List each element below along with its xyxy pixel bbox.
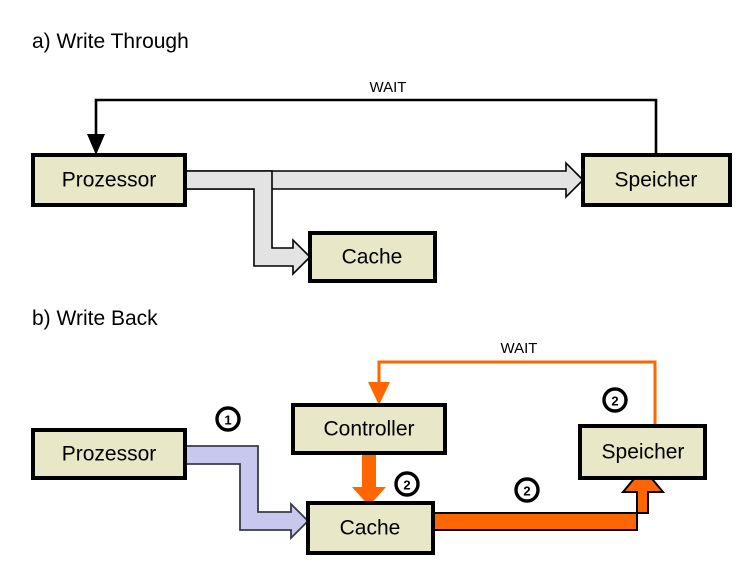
node-controller-b[interactable]: Controller: [293, 405, 445, 453]
step-marker-2-cache-speicher: 2: [516, 479, 538, 501]
step-marker-1: 1: [217, 408, 239, 430]
wait-a-label: WAIT: [370, 79, 407, 96]
step-marker-2-controller: 2: [396, 473, 418, 495]
step-marker-2-controller-label: 2: [403, 478, 410, 493]
node-prozessor-b[interactable]: Prozessor: [33, 430, 185, 478]
node-cache-a[interactable]: Cache: [310, 233, 435, 281]
section-a-title: a) Write Through: [32, 30, 189, 53]
step-marker-2-cache-speicher-label: 2: [523, 484, 530, 499]
prozessor-b-label: Prozessor: [62, 443, 157, 466]
node-speicher-a[interactable]: Speicher: [583, 155, 730, 205]
node-prozessor-a[interactable]: Prozessor: [33, 155, 185, 205]
speicher-b-label: Speicher: [602, 441, 685, 464]
controller-b-label: Controller: [323, 418, 414, 441]
cache-b-label: Cache: [340, 517, 401, 540]
section-b-title: b) Write Back: [32, 307, 158, 330]
wait-b-label: WAIT: [501, 340, 538, 357]
prozessor-a-label: Prozessor: [62, 169, 157, 192]
node-cache-b[interactable]: Cache: [308, 503, 433, 553]
node-speicher-b[interactable]: Speicher: [580, 426, 705, 478]
speicher-a-label: Speicher: [615, 169, 698, 192]
step-marker-1-label: 1: [224, 413, 231, 428]
cache-a-label: Cache: [342, 246, 403, 269]
step-marker-2-speicher-label: 2: [611, 394, 618, 409]
diagram-canvas: a) Write Through WAIT Prozessor: [0, 0, 751, 580]
step-marker-2-speicher: 2: [604, 389, 626, 411]
cache-write-policy-diagram: a) Write Through WAIT Prozessor: [0, 0, 751, 580]
